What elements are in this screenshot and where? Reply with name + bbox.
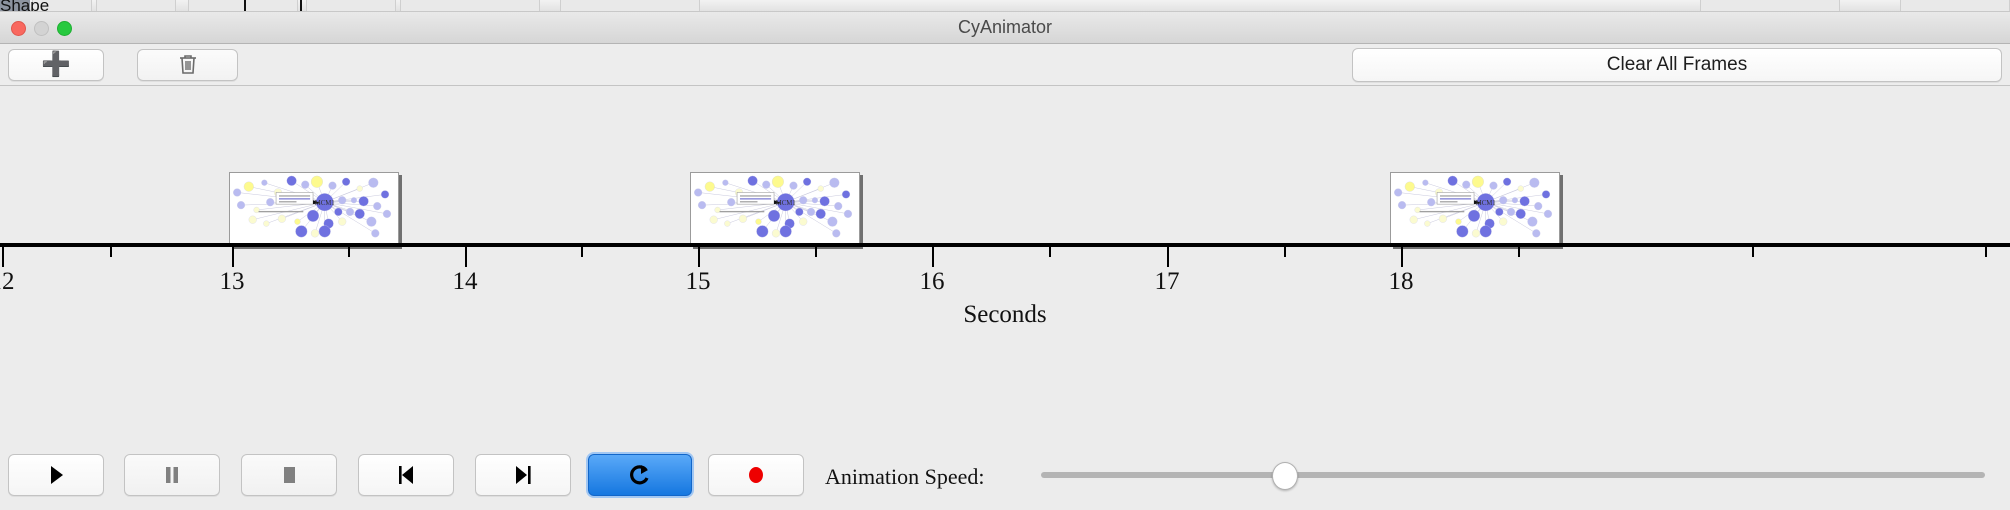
ruler-major-tick	[1401, 247, 1403, 267]
ruler-tick-label: 12	[0, 268, 15, 296]
ruler-tick-label: 15	[686, 268, 711, 296]
clear-all-frames-label: Clear All Frames	[1607, 54, 1747, 76]
ruler-major-tick	[698, 247, 700, 267]
svg-text:MCM1: MCM1	[1476, 200, 1496, 207]
ruler-minor-tick	[815, 247, 817, 257]
ruler-major-tick	[465, 247, 467, 267]
ruler-major-tick	[932, 247, 934, 267]
bg-chip	[1900, 0, 2010, 12]
window-title: CyAnimator	[0, 17, 2010, 38]
ruler-minor-tick	[1049, 247, 1051, 257]
stop-button[interactable]	[241, 454, 337, 496]
animation-speed-slider-track[interactable]	[1041, 472, 1985, 478]
bg-partial-label: Shape	[0, 0, 49, 12]
skip-end-button[interactable]	[475, 454, 571, 496]
animation-speed-slider-thumb[interactable]	[1272, 462, 1298, 490]
timeline-ruler	[0, 243, 2010, 247]
ruler-tick-label: 13	[220, 268, 245, 296]
network-graph: MCM1	[230, 173, 398, 245]
clear-all-frames-button[interactable]: Clear All Frames	[1352, 48, 2002, 82]
animation-speed-label: Animation Speed:	[825, 464, 984, 490]
frame-thumbnail[interactable]: MCM1	[690, 172, 860, 246]
svg-text:MCM1: MCM1	[315, 200, 335, 207]
skip-to-start-icon	[391, 462, 421, 488]
play-icon	[41, 462, 71, 488]
toolbar: ➕ Clear All Frames	[0, 44, 2010, 86]
background-app-strip: Shape	[0, 0, 2010, 12]
bg-tick	[300, 0, 302, 12]
ruler-major-tick	[2, 247, 4, 267]
playback-bar: Animation Speed:	[0, 440, 2010, 510]
add-frame-button[interactable]: ➕	[8, 49, 104, 81]
ruler-major-tick	[232, 247, 234, 267]
title-bar: CyAnimator	[0, 12, 2010, 44]
record-icon	[741, 462, 771, 488]
ruler-tick-label: 16	[920, 268, 945, 296]
skip-to-end-icon	[508, 462, 538, 488]
bg-chip	[306, 0, 396, 12]
loop-icon	[625, 462, 655, 488]
pause-icon	[157, 462, 187, 488]
bg-chip	[96, 0, 176, 12]
frames-track[interactable]: MCM1MCM1MCM1	[0, 86, 2010, 246]
skip-start-button[interactable]	[358, 454, 454, 496]
ruler-major-tick	[1167, 247, 1169, 267]
ruler-tick-label: 14	[453, 268, 478, 296]
stop-icon	[274, 462, 304, 488]
ruler-tick-label: 18	[1389, 268, 1414, 296]
bg-chip	[1700, 0, 1840, 12]
plus-icon: ➕	[41, 53, 71, 77]
bg-tick	[244, 0, 246, 12]
frame-thumbnail[interactable]: MCM1	[1390, 172, 1560, 246]
ruler-tick-label: 17	[1155, 268, 1180, 296]
bg-chip	[400, 0, 540, 12]
bg-chip	[188, 0, 298, 12]
cyanimator-window: Shape CyAnimator ➕ Clear All Frames	[0, 0, 2010, 510]
timeline-panel[interactable]: MCM1MCM1MCM1 12131415161718 Seconds	[0, 86, 2010, 412]
ruler-minor-tick	[1284, 247, 1286, 257]
axis-title: Seconds	[0, 301, 2010, 329]
ruler-minor-tick	[1985, 247, 1987, 257]
ruler-minor-tick	[1752, 247, 1754, 257]
pause-button[interactable]	[124, 454, 220, 496]
delete-frame-button[interactable]	[137, 49, 238, 81]
bg-chip	[560, 0, 700, 12]
ruler-minor-tick	[581, 247, 583, 257]
network-graph: MCM1	[1391, 173, 1559, 245]
record-button[interactable]	[708, 454, 804, 496]
loop-button[interactable]	[588, 454, 692, 496]
svg-text:MCM1: MCM1	[776, 200, 796, 207]
play-button[interactable]	[8, 454, 104, 496]
network-graph: MCM1	[691, 173, 859, 245]
ruler-minor-tick	[1518, 247, 1520, 257]
ruler-minor-tick	[110, 247, 112, 257]
trash-icon	[178, 53, 198, 77]
frame-thumbnail[interactable]: MCM1	[229, 172, 399, 246]
ruler-minor-tick	[348, 247, 350, 257]
